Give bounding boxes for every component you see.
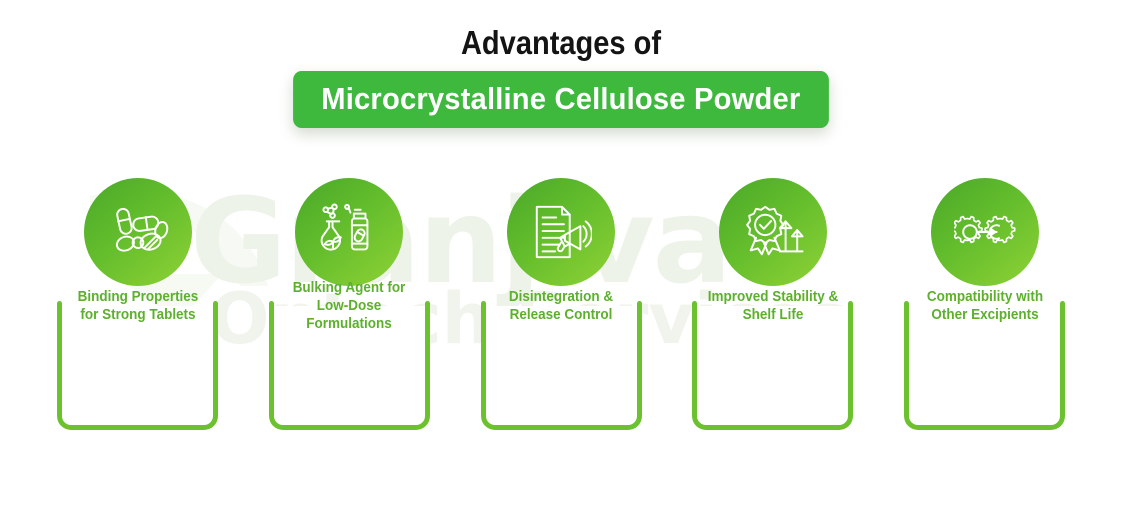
advantage-label-4: Improved Stability & Shelf Life <box>703 288 843 324</box>
card-box-4 <box>692 306 853 430</box>
icon-circle-1 <box>84 178 192 286</box>
card-box-3 <box>481 306 642 430</box>
advantage-card-4[interactable]: Improved Stability & Shelf Life <box>690 178 855 433</box>
icon-circle-5 <box>931 178 1039 286</box>
page-title-line1: Advantages of <box>67 24 1054 62</box>
advantage-label-2: Bulking Agent for Low-Dose Formulations <box>280 279 420 333</box>
flask-leaf-pill-bottle-icon <box>318 201 380 263</box>
advantage-cards-row: Binding Properties for Strong Tablets <box>55 178 1067 433</box>
title-banner-wrap: Microcrystalline Cellulose Powder <box>0 71 1122 128</box>
gears-arrow-icon <box>954 201 1016 263</box>
advantage-label-1: Binding Properties for Strong Tablets <box>68 288 208 324</box>
advantage-card-1[interactable]: Binding Properties for Strong Tablets <box>55 178 220 433</box>
advantage-label-3: Disintegration & Release Control <box>491 288 631 324</box>
icon-circle-3 <box>507 178 615 286</box>
header: Advantages of Microcrystalline Cellulose… <box>0 0 1122 128</box>
advantage-card-3[interactable]: Disintegration & Release Control <box>479 178 644 433</box>
document-megaphone-icon <box>530 201 592 263</box>
advantage-card-5[interactable]: Compatibility with Other Excipients <box>902 178 1067 433</box>
award-badge-arrows-up-icon <box>742 201 804 263</box>
pills-capsules-icon <box>107 201 169 263</box>
card-box-1 <box>57 306 218 430</box>
infographic-root: Granjiva Ontech Services Advantages of M… <box>0 0 1122 530</box>
page-title-banner: Microcrystalline Cellulose Powder <box>293 71 828 128</box>
icon-circle-4 <box>719 178 827 286</box>
advantage-card-2[interactable]: Bulking Agent for Low-Dose Formulations <box>267 178 432 433</box>
card-box-5 <box>904 306 1065 430</box>
advantage-label-5: Compatibility with Other Excipients <box>915 288 1055 324</box>
icon-circle-2 <box>295 178 403 286</box>
